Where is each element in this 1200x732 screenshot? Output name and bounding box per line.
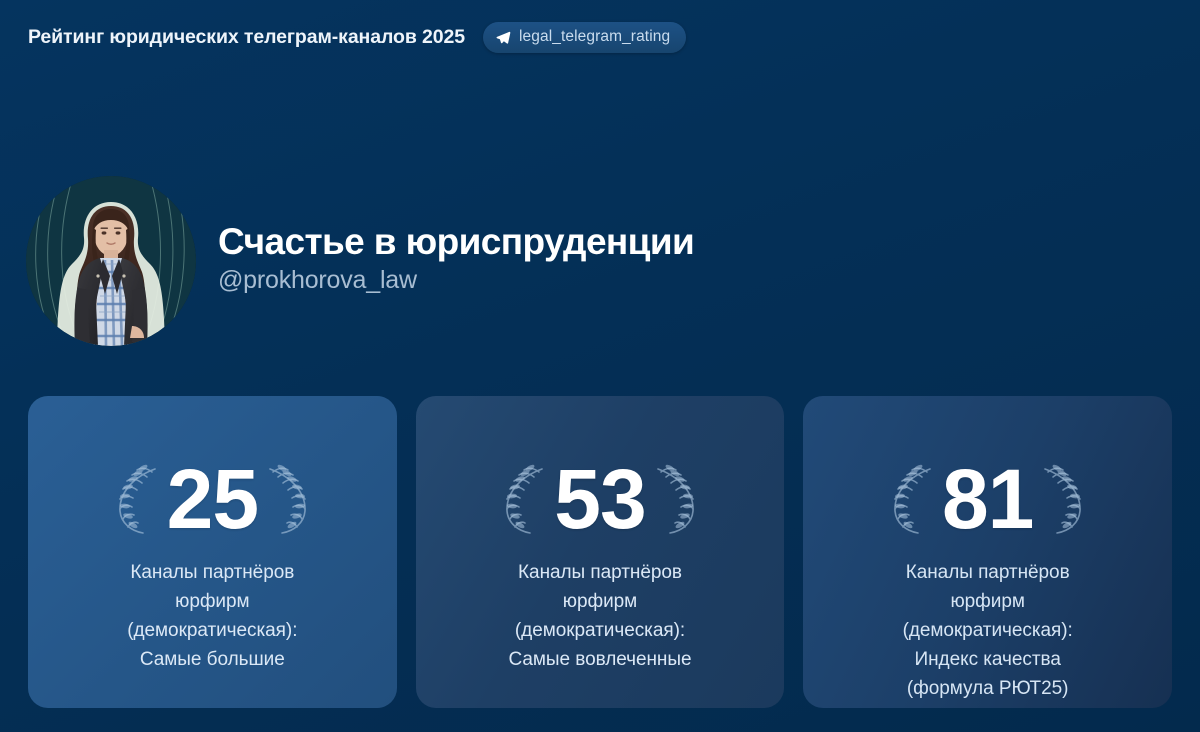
laurel-wreath-icon: [260, 463, 314, 535]
laurel-wreath-icon: [111, 463, 165, 535]
page-title: Рейтинг юридических телеграм-каналов 202…: [28, 26, 465, 49]
stat-label-line: Самые большие: [127, 645, 297, 674]
stat-card-quality-index[interactable]: 81: [803, 396, 1172, 708]
stat-label-line: Индекс качества: [903, 645, 1073, 674]
stat-number: 25: [165, 457, 260, 541]
channel-name: Счастье в юриспруденции: [218, 221, 694, 262]
stat-number: 53: [552, 457, 647, 541]
stat-label: Каналы партнёров юрфирм (демократическая…: [903, 558, 1073, 703]
stat-label-line: Каналы партнёров: [903, 558, 1073, 587]
stat-label-line: юрфирм: [903, 587, 1073, 616]
stat-label-line: Самые вовлеченные: [508, 645, 691, 674]
stat-value-row: 53: [498, 456, 701, 542]
telegram-paper-plane-icon: [496, 30, 511, 45]
telegram-handle-label: legal_telegram_rating: [519, 28, 670, 46]
telegram-channel-badge[interactable]: legal_telegram_rating: [483, 22, 686, 53]
stat-label-line: Каналы партнёров: [508, 558, 691, 587]
stat-value-row: 25: [111, 456, 314, 542]
stat-label-line: юрфирм: [127, 587, 297, 616]
stat-card-biggest[interactable]: 25: [28, 396, 397, 708]
stat-label: Каналы партнёров юрфирм (демократическая…: [508, 558, 691, 674]
stat-number: 81: [940, 457, 1035, 541]
channel-profile: Счастье в юриспруденции @prokhorova_law: [26, 176, 694, 346]
channel-handle[interactable]: @prokhorova_law: [218, 266, 694, 295]
header: Рейтинг юридических телеграм-каналов 202…: [28, 22, 686, 53]
laurel-wreath-icon: [498, 463, 552, 535]
stat-label-line: (демократическая):: [903, 616, 1073, 645]
laurel-wreath-icon: [648, 463, 702, 535]
stat-label-line: (демократическая):: [127, 616, 297, 645]
laurel-wreath-icon: [1035, 463, 1089, 535]
stat-value-row: 81: [886, 456, 1089, 542]
stat-label: Каналы партнёров юрфирм (демократическая…: [127, 558, 297, 674]
avatar: [26, 176, 196, 346]
stat-cards: 25: [28, 396, 1172, 708]
stat-card-most-engaged[interactable]: 53: [416, 396, 785, 708]
stat-label-line: Каналы партнёров: [127, 558, 297, 587]
stat-label-line: юрфирм: [508, 587, 691, 616]
stat-label-line: (демократическая):: [508, 616, 691, 645]
stat-label-line: (формула РЮТ25): [903, 674, 1073, 703]
rating-infographic-page: Рейтинг юридических телеграм-каналов 202…: [0, 0, 1200, 732]
profile-text: Счастье в юриспруденции @prokhorova_law: [218, 221, 694, 301]
laurel-wreath-icon: [886, 463, 940, 535]
